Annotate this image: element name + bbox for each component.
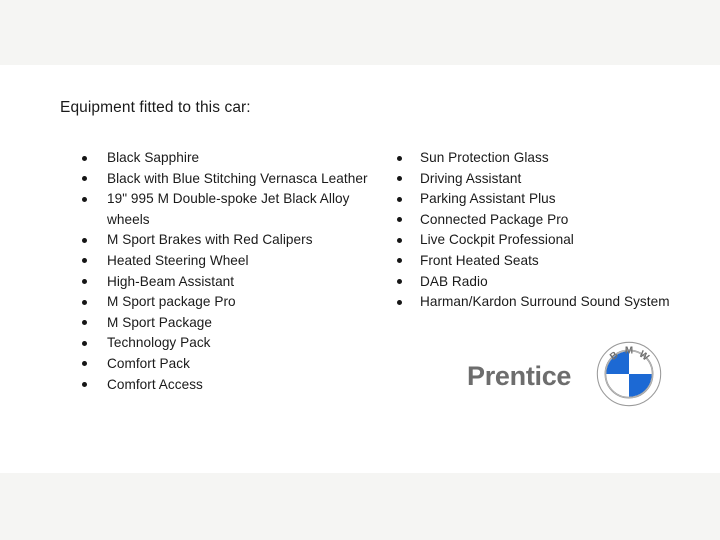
- list-item: Comfort Access: [76, 375, 376, 396]
- bullet-icon: [82, 361, 87, 366]
- list-item: Front Heated Seats: [392, 251, 672, 272]
- bmw-roundel-icon: B M W: [596, 341, 662, 412]
- bullet-icon: [397, 156, 402, 161]
- list-item-label: Harman/Kardon Surround Sound System: [420, 294, 670, 309]
- page-bottom-margin-band: [0, 473, 720, 540]
- list-item: Parking Assistant Plus: [392, 189, 672, 210]
- document-page: Equipment fitted to this car: Black Sapp…: [0, 0, 720, 540]
- list-item: M Sport Package: [76, 313, 376, 334]
- list-item: High-Beam Assistant: [76, 272, 376, 293]
- list-item: Black Sapphire: [76, 148, 376, 169]
- list-item-label: Technology Pack: [107, 335, 211, 350]
- list-item: Live Cockpit Professional: [392, 230, 672, 251]
- bullet-icon: [397, 217, 402, 222]
- page-top-margin-band: [0, 0, 720, 65]
- list-item-label: Heated Steering Wheel: [107, 253, 249, 268]
- bullet-icon: [82, 382, 87, 387]
- equipment-list-right: Sun Protection Glass Driving Assistant P…: [392, 148, 672, 313]
- bullet-icon: [82, 176, 87, 181]
- bullet-icon: [397, 197, 402, 202]
- equipment-column-right: Sun Protection Glass Driving Assistant P…: [392, 148, 672, 313]
- list-item-label: Comfort Pack: [107, 356, 190, 371]
- list-item: DAB Radio: [392, 272, 672, 293]
- list-item-label: Connected Package Pro: [420, 212, 568, 227]
- list-item: Heated Steering Wheel: [76, 251, 376, 272]
- dealer-brand-lockup: Prentice B M W: [467, 337, 667, 415]
- list-item-label: DAB Radio: [420, 274, 488, 289]
- bullet-icon: [82, 238, 87, 243]
- list-item: Sun Protection Glass: [392, 148, 672, 169]
- list-item: Technology Pack: [76, 333, 376, 354]
- list-item-label: Front Heated Seats: [420, 253, 539, 268]
- equipment-list-left: Black Sapphire Black with Blue Stitching…: [76, 148, 376, 395]
- list-item-label: Sun Protection Glass: [420, 150, 549, 165]
- list-item: M Sport package Pro: [76, 292, 376, 313]
- bullet-icon: [82, 279, 87, 284]
- equipment-column-left: Black Sapphire Black with Blue Stitching…: [76, 148, 376, 395]
- bullet-icon: [397, 258, 402, 263]
- list-item-label: M Sport package Pro: [107, 294, 236, 309]
- bullet-icon: [397, 176, 402, 181]
- list-item-label: Driving Assistant: [420, 171, 521, 186]
- bullet-icon: [397, 238, 402, 243]
- bullet-icon: [82, 156, 87, 161]
- bullet-icon: [82, 341, 87, 346]
- list-item-label: M Sport Brakes with Red Calipers: [107, 232, 313, 247]
- list-item-label: High-Beam Assistant: [107, 274, 234, 289]
- list-item-label: Black Sapphire: [107, 150, 199, 165]
- bullet-icon: [397, 300, 402, 305]
- page-title: Equipment fitted to this car:: [60, 99, 251, 117]
- list-item-label: Parking Assistant Plus: [420, 191, 556, 206]
- list-item-label: Live Cockpit Professional: [420, 232, 574, 247]
- bullet-icon: [82, 320, 87, 325]
- list-item-label: Comfort Access: [107, 377, 203, 392]
- dealer-wordmark: Prentice: [467, 363, 571, 390]
- bullet-icon: [82, 197, 87, 202]
- svg-text:M: M: [625, 345, 633, 356]
- list-item: Connected Package Pro: [392, 210, 672, 231]
- list-item: M Sport Brakes with Red Calipers: [76, 230, 376, 251]
- bullet-icon: [82, 300, 87, 305]
- bullet-icon: [397, 279, 402, 284]
- list-item-label: 19" 995 M Double-spoke Jet Black Alloy w…: [107, 191, 349, 227]
- list-item: Driving Assistant: [392, 169, 672, 190]
- list-item: Black with Blue Stitching Vernasca Leath…: [76, 169, 376, 190]
- list-item: Harman/Kardon Surround Sound System: [392, 292, 672, 313]
- list-item: 19" 995 M Double-spoke Jet Black Alloy w…: [76, 189, 376, 230]
- bullet-icon: [82, 258, 87, 263]
- equipment-sheet: Equipment fitted to this car: Black Sapp…: [0, 65, 720, 473]
- list-item-label: Black with Blue Stitching Vernasca Leath…: [107, 171, 368, 186]
- list-item: Comfort Pack: [76, 354, 376, 375]
- list-item-label: M Sport Package: [107, 315, 212, 330]
